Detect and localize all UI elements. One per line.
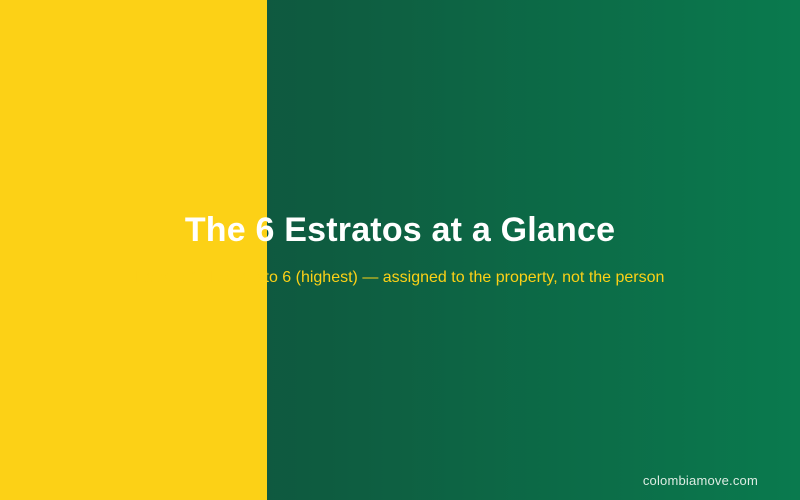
slide-content: The 6 Estratos at a Glance Estrato 1 (lo… xyxy=(0,0,800,500)
footer-site-label: colombiamove.com xyxy=(643,473,758,488)
page-subtitle: Estrato 1 (lowest) to 6 (highest) — assi… xyxy=(136,268,665,287)
page-title: The 6 Estratos at a Glance xyxy=(185,213,615,249)
slide-canvas: The 6 Estratos at a Glance Estrato 1 (lo… xyxy=(0,0,800,500)
